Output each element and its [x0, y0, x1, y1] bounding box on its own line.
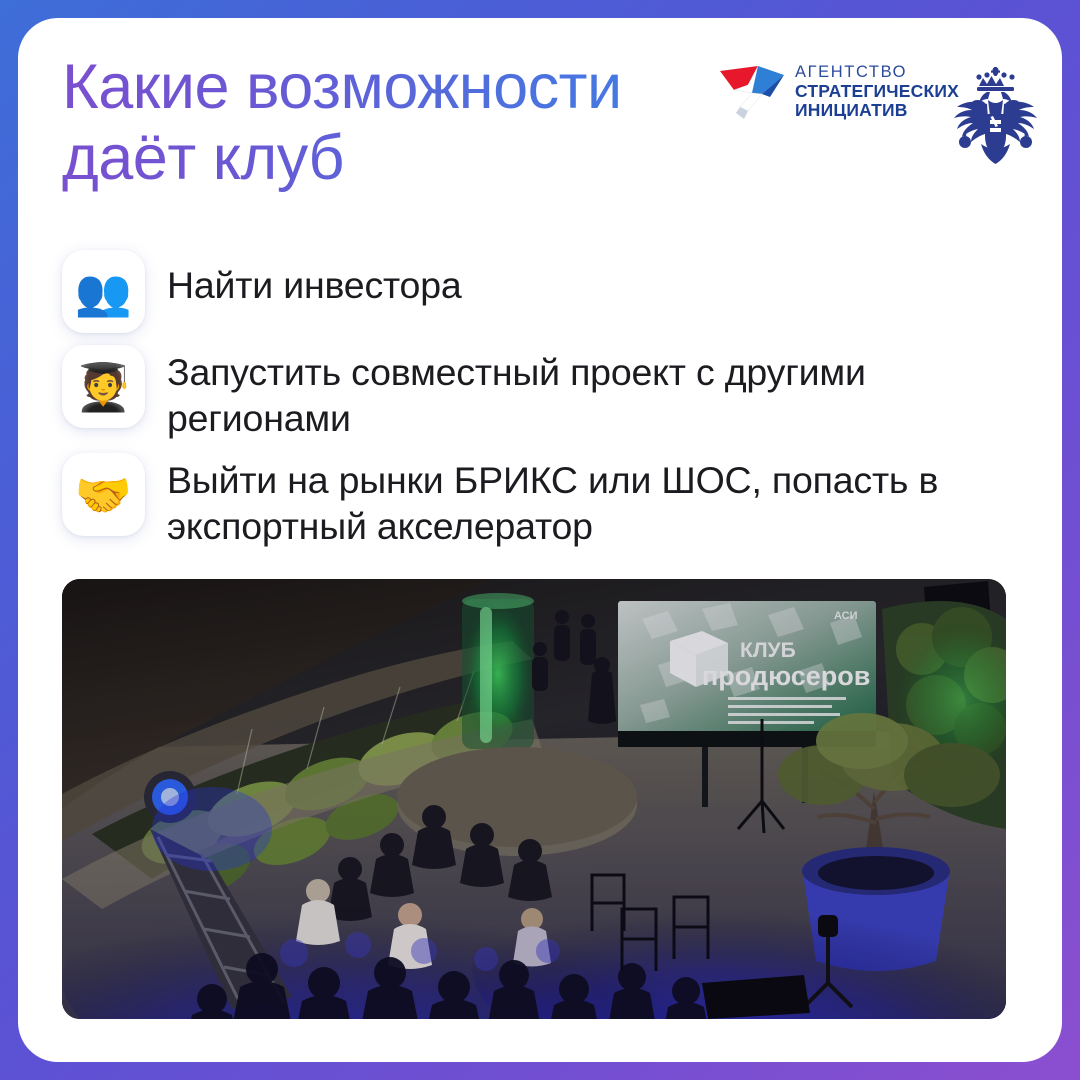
list-item-label: Запустить совместный проект с другими ре…: [167, 345, 1022, 441]
benefits-list: 👥 Найти инвестора 🧑‍🎓 Запустить совместн…: [62, 250, 1022, 562]
graduate-emoji: 🧑‍🎓: [62, 345, 145, 428]
asi-logo: АГЕНТСТВО СТРАТЕГИЧЕСКИХ ИНИЦИАТИВ: [718, 63, 959, 121]
event-photo: КЛУБ продюсеров АСИ: [62, 579, 1006, 1019]
asi-wordmark: АГЕНТСТВО СТРАТЕГИЧЕСКИХ ИНИЦИАТИВ: [795, 63, 959, 121]
asi-arrow-icon: [718, 63, 786, 121]
asi-line-2: СТРАТЕГИЧЕСКИХ: [795, 82, 959, 102]
list-item: 🧑‍🎓 Запустить совместный проект с другим…: [62, 345, 1022, 441]
list-item: 🤝 Выйти на рынки БРИКС или ШОС, попасть …: [62, 453, 1022, 549]
content-card: Какие возможности даёт клуб АГЕНТСТВО: [18, 18, 1062, 1062]
list-item: 👥 Найти инвестора: [62, 250, 1022, 333]
card-header: Какие возможности даёт клуб АГЕНТСТВО: [18, 18, 1062, 218]
asi-line-1: АГЕНТСТВО: [795, 63, 959, 81]
list-item-label: Выйти на рынки БРИКС или ШОС, попасть в …: [167, 453, 1022, 549]
page-title: Какие возможности даёт клуб: [62, 52, 742, 193]
busts-in-silhouette-emoji: 👥: [62, 250, 145, 333]
double-headed-eagle-icon: [943, 58, 1048, 178]
handshake-emoji: 🤝: [62, 453, 145, 536]
asi-line-3: ИНИЦИАТИВ: [795, 101, 959, 121]
gradient-border-frame: Какие возможности даёт клуб АГЕНТСТВО: [0, 0, 1080, 1080]
list-item-label: Найти инвестора: [167, 250, 1022, 308]
